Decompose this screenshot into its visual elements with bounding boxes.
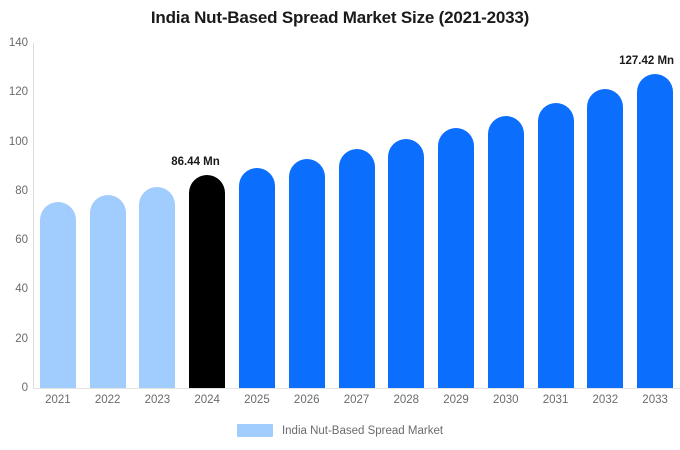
y-tick-label: 60 bbox=[0, 234, 28, 246]
y-tick-label: 0 bbox=[0, 382, 28, 394]
x-tick-label-2024: 2024 bbox=[182, 394, 232, 406]
x-axis-line bbox=[33, 388, 680, 389]
legend-swatch-india-nut-based-spread-market bbox=[237, 424, 273, 437]
x-tick-label-2032: 2032 bbox=[580, 394, 630, 406]
x-tick-label-2029: 2029 bbox=[431, 394, 481, 406]
bar-2029[interactable] bbox=[438, 128, 474, 388]
chart-legend[interactable]: India Nut-Based Spread Market bbox=[0, 424, 680, 437]
bar-2033[interactable] bbox=[637, 74, 673, 388]
y-tick-label: 20 bbox=[0, 333, 28, 345]
bar-2030[interactable] bbox=[488, 116, 524, 388]
data-label-2024: 86.44 Mn bbox=[171, 156, 220, 168]
bar-2024[interactable] bbox=[189, 175, 225, 388]
y-tick-label: 140 bbox=[0, 37, 28, 49]
plot-area bbox=[33, 43, 680, 388]
x-tick-label-2026: 2026 bbox=[282, 394, 332, 406]
bar-2026[interactable] bbox=[289, 159, 325, 388]
bar-2022[interactable] bbox=[90, 195, 126, 388]
y-tick-label: 120 bbox=[0, 86, 28, 98]
x-tick-label-2028: 2028 bbox=[381, 394, 431, 406]
x-tick-label-2023: 2023 bbox=[133, 394, 183, 406]
legend-label: India Nut-Based Spread Market bbox=[282, 425, 443, 437]
bar-2023[interactable] bbox=[139, 187, 175, 388]
x-tick-label-2030: 2030 bbox=[481, 394, 531, 406]
bar-2031[interactable] bbox=[538, 103, 574, 388]
x-tick-label-2022: 2022 bbox=[83, 394, 133, 406]
bar-2027[interactable] bbox=[339, 149, 375, 388]
x-tick-label-2025: 2025 bbox=[232, 394, 282, 406]
data-label-2033: 127.42 Mn bbox=[619, 55, 674, 67]
bar-2032[interactable] bbox=[587, 89, 623, 388]
x-tick-label-2027: 2027 bbox=[332, 394, 382, 406]
x-tick-label-2031: 2031 bbox=[531, 394, 581, 406]
bar-chart: India Nut-Based Spread Market Size (2021… bbox=[0, 0, 680, 450]
bar-2025[interactable] bbox=[239, 168, 275, 388]
chart-title: India Nut-Based Spread Market Size (2021… bbox=[0, 8, 680, 28]
y-tick-label: 40 bbox=[0, 283, 28, 295]
x-tick-label-2033: 2033 bbox=[630, 394, 680, 406]
y-tick-label: 100 bbox=[0, 136, 28, 148]
x-tick-label-2021: 2021 bbox=[33, 394, 83, 406]
y-tick-label: 80 bbox=[0, 185, 28, 197]
bar-2021[interactable] bbox=[40, 202, 76, 388]
bar-2028[interactable] bbox=[388, 139, 424, 388]
